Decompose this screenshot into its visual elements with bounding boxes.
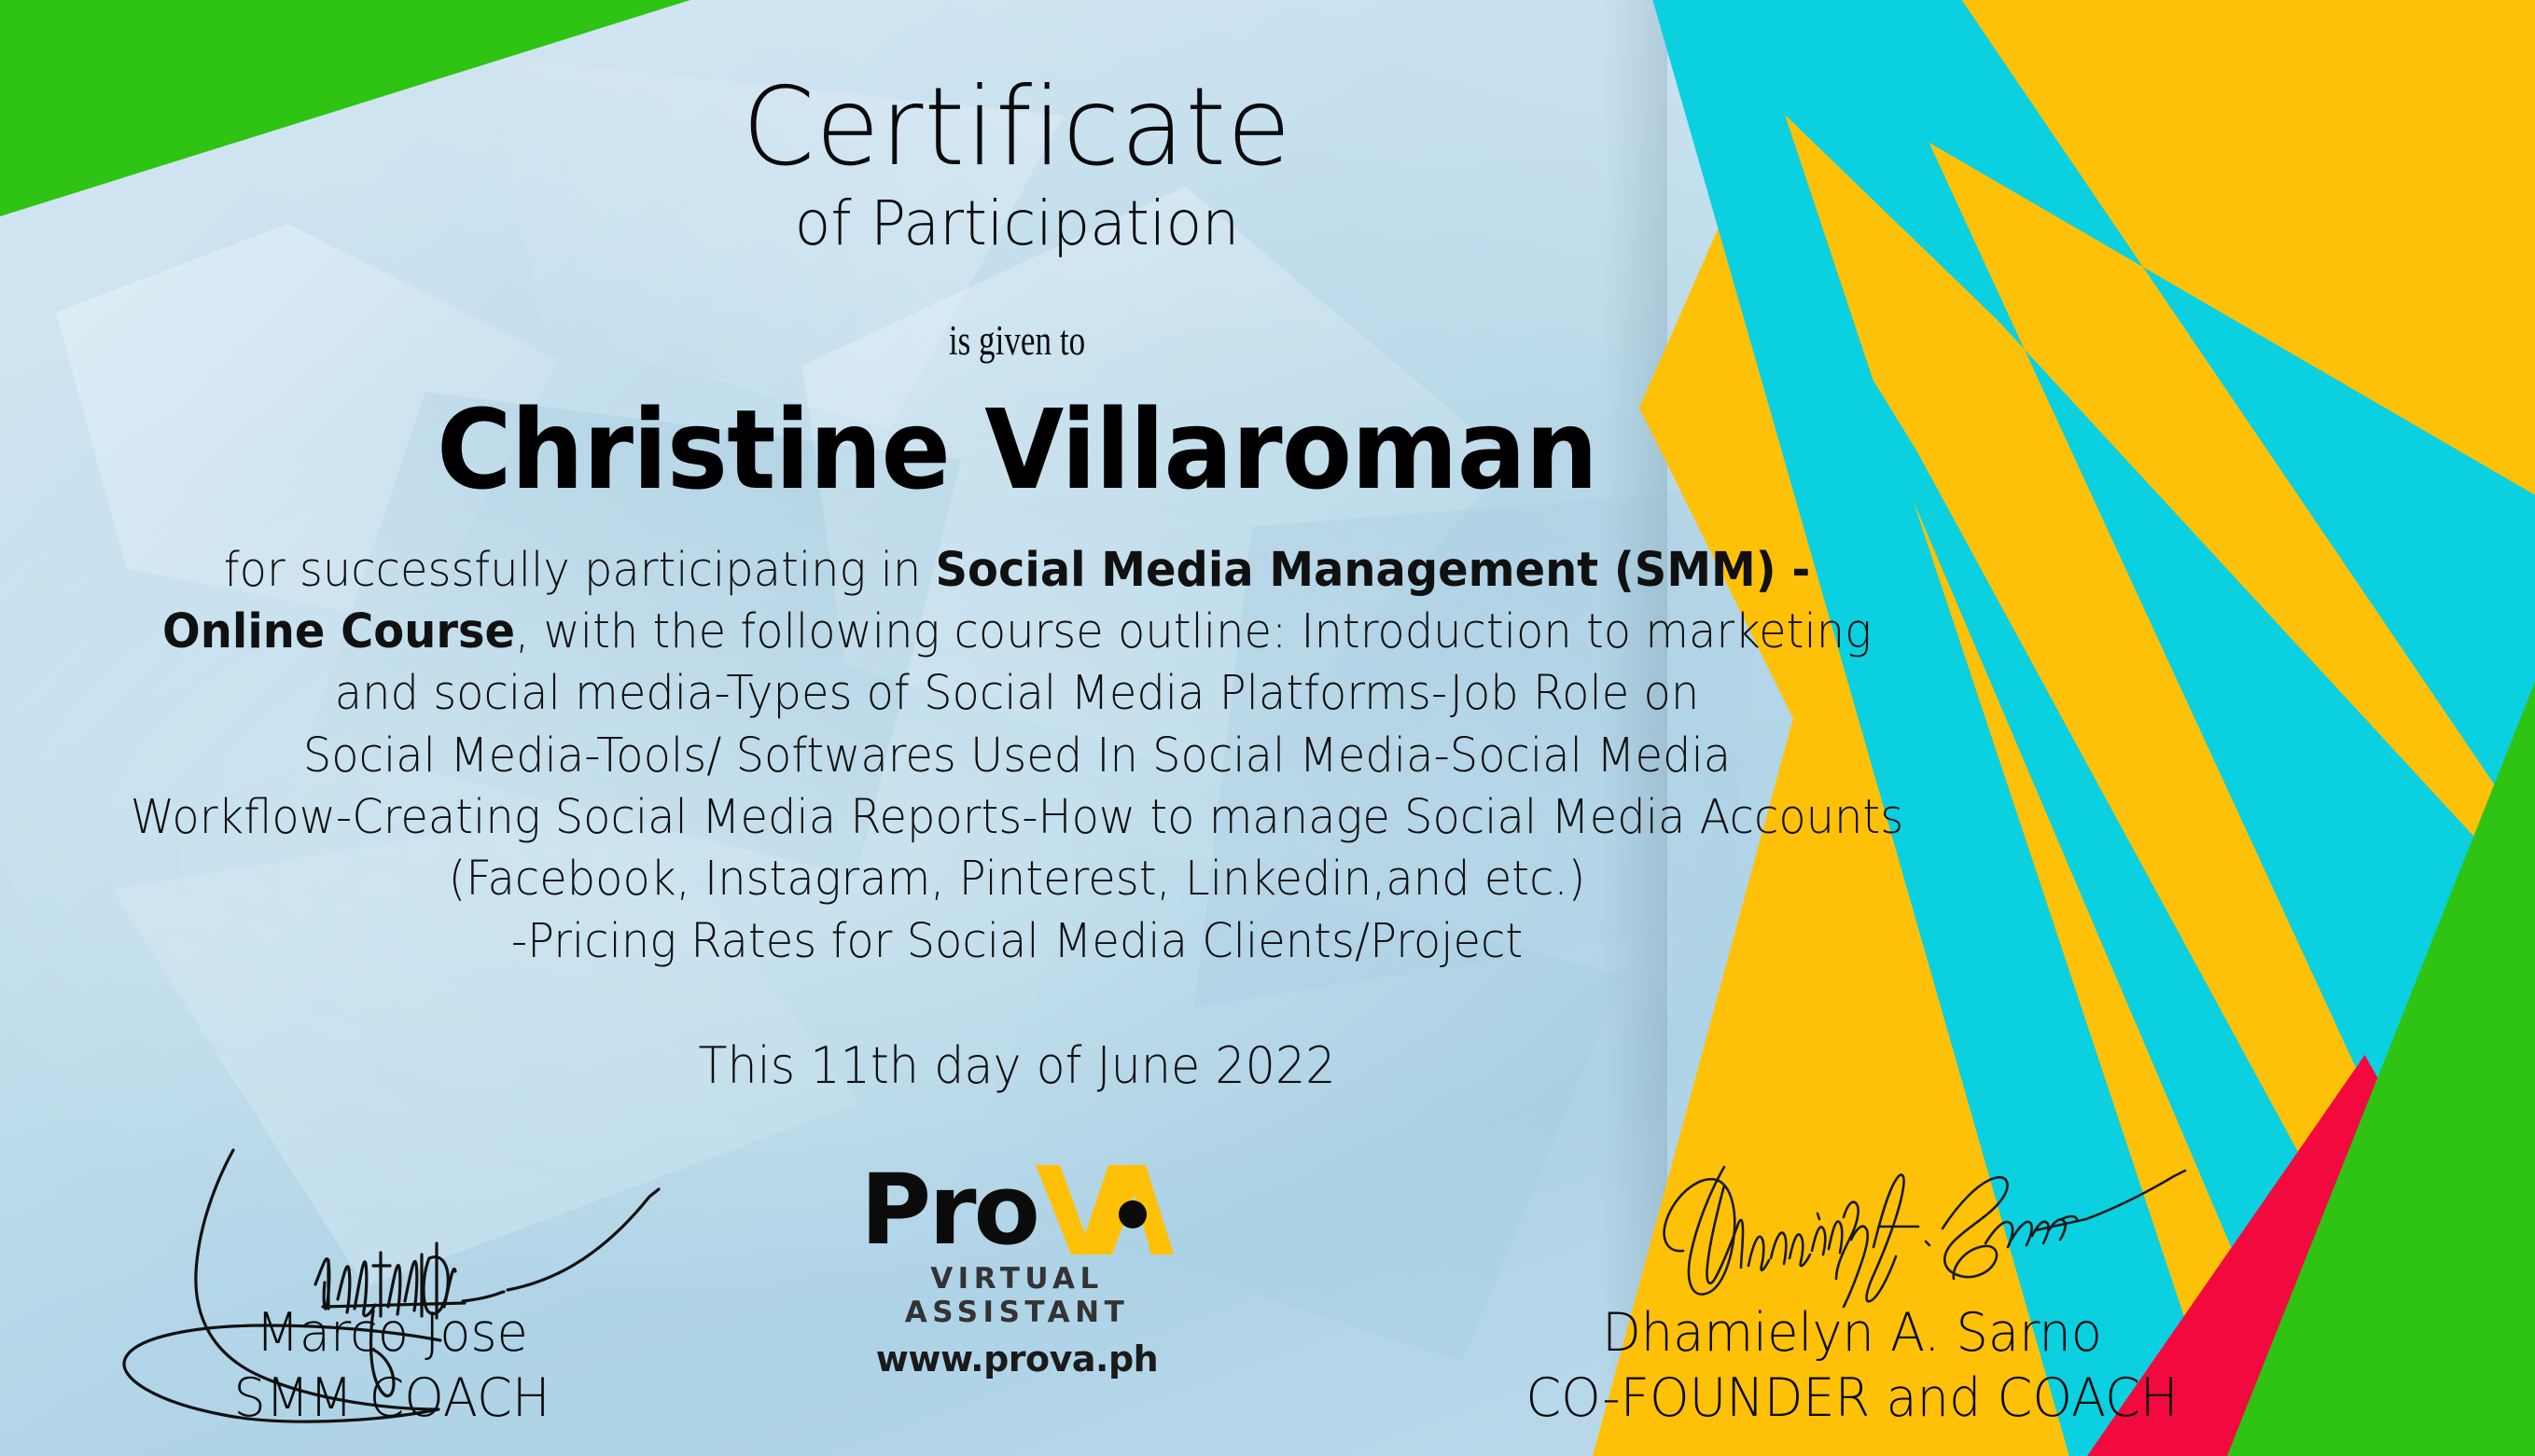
logo-tagline: VIRTUAL ASSISTANT: [821, 1262, 1213, 1329]
course-name-part1: Social Media Management (SMM) -: [936, 543, 1811, 598]
logo-word-pro: Pro: [860, 1161, 1038, 1258]
logo-wordmark: Pro: [821, 1161, 1213, 1264]
body-line4: Social Media-Tools/ Softwares Used In So…: [303, 728, 1731, 783]
recipient-name: Christine Villaroman: [71, 393, 1962, 508]
certificate-title: Certificate: [41, 73, 1994, 183]
logo-word-va: [1034, 1161, 1174, 1258]
body-line7: -Pricing Rates for Social Media Clients/…: [511, 914, 1523, 969]
certificate-body: for successfully participating in Social…: [61, 540, 1972, 973]
logo-url: www.prova.ph: [821, 1338, 1213, 1380]
body-line1-prefix: for successfully participating in: [224, 543, 936, 598]
body-line6: (Facebook, Instagram, Pinterest, Linkedi…: [449, 852, 1586, 907]
given-to-label: is given to: [224, 316, 1810, 365]
body-line5: Workflow-Creating Social Media Reports-H…: [131, 790, 1903, 845]
course-name-part2: Online Course: [162, 604, 515, 659]
certificate-heading: Certificate of Participation: [0, 0, 2034, 258]
body-line2-rest: , with the following course outline: Int…: [515, 604, 1872, 659]
va-monogram-icon: [1034, 1161, 1174, 1258]
certificate-canvas: Certificate of Participation is given to…: [0, 0, 2535, 1456]
prova-logo: Pro VIRTUAL ASSISTANT www.prova.ph: [821, 1161, 1213, 1380]
certificate-subtitle: of Participation: [41, 190, 1994, 258]
certificate-date: This 11th day of June 2022: [61, 1036, 1972, 1095]
body-line3: and social media-Types of Social Media P…: [335, 666, 1699, 721]
